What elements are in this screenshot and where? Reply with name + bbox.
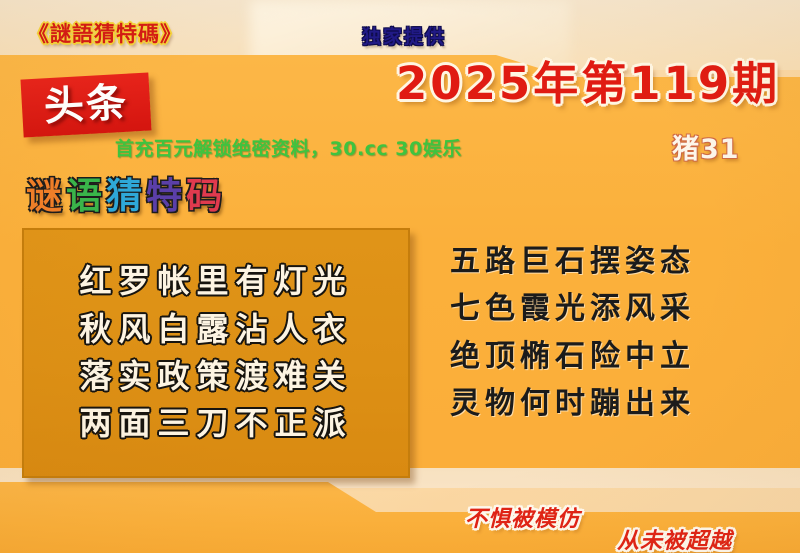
riddle-line: 秋风白露沾人衣 xyxy=(38,306,394,353)
poster-canvas: 《謎語猜特碼》 独家提供 2025年第119期 猪31 头条 首充百元解锁绝密资… xyxy=(0,0,800,553)
footer-slogan-right: 从未被超越 xyxy=(617,523,732,553)
footer-slogan-left: 不惧被模仿 xyxy=(465,501,580,533)
riddle-box: 红罗帐里有灯光秋风白露沾人衣落实政策渡难关两面三刀不正派 xyxy=(22,228,410,478)
section-heading-char-1: 语 xyxy=(66,176,106,217)
section-heading-char-0: 谜 xyxy=(26,176,66,217)
verse-line: 灵物何时蹦出来 xyxy=(450,380,790,427)
verse-column: 五路巨石摆姿态七色霞光添风采绝顶椭石险中立灵物何时蹦出来 xyxy=(450,238,790,428)
section-heading-char-3: 特 xyxy=(146,176,186,217)
section-heading-rainbow: 谜语猜特码 xyxy=(26,179,226,215)
issue-number-label: 2025年第119期 xyxy=(396,47,780,112)
headline-badge: 头条 xyxy=(20,72,151,137)
page-title-traditional: 《謎語猜特碼》 xyxy=(28,18,182,48)
riddle-line: 两面三刀不正派 xyxy=(38,400,394,447)
headline-badge-label: 头条 xyxy=(43,83,129,128)
verse-line: 五路巨石摆姿态 xyxy=(450,238,790,285)
section-heading-char-2: 猜 xyxy=(106,176,146,217)
riddle-line: 红罗帐里有灯光 xyxy=(38,258,394,305)
promo-text: 首充百元解锁绝密资料，30.cc 30娱乐 xyxy=(115,134,462,161)
verse-line: 七色霞光添风采 xyxy=(450,285,790,332)
exclusive-label: 独家提供 xyxy=(362,22,446,49)
zodiac-number-label: 猪31 xyxy=(672,127,740,166)
riddle-line: 落实政策渡难关 xyxy=(38,353,394,400)
section-heading-char-4: 码 xyxy=(186,176,226,217)
verse-line: 绝顶椭石险中立 xyxy=(450,333,790,380)
